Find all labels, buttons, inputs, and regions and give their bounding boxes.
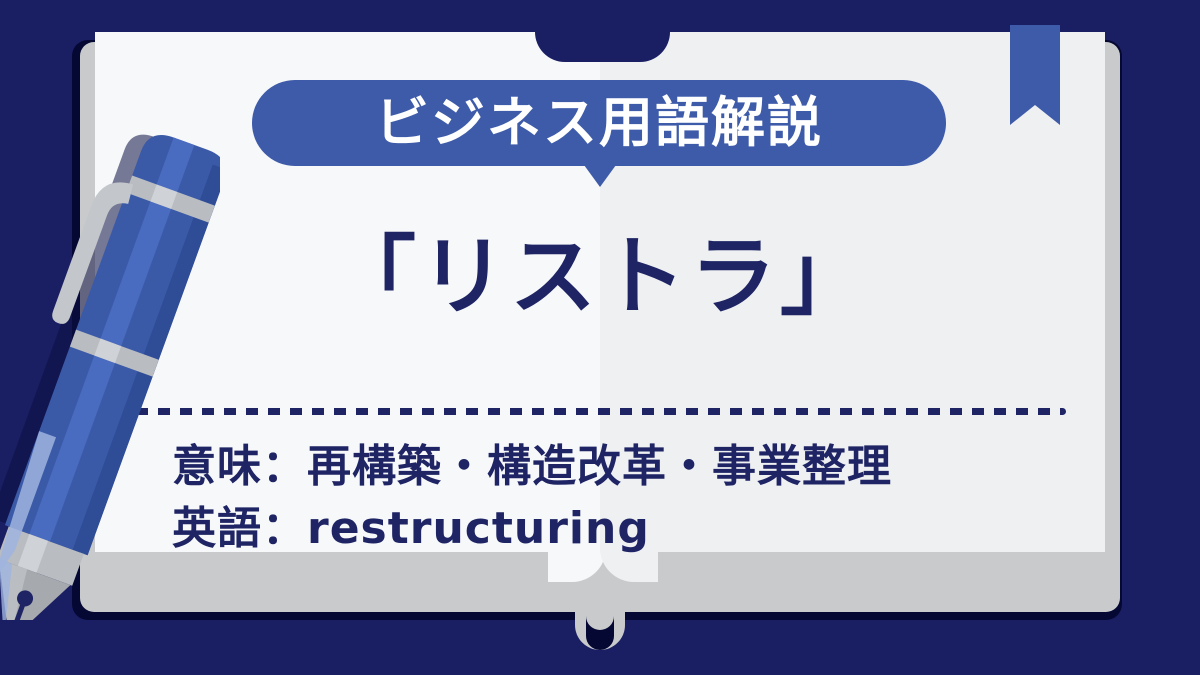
detail-line-english: 英語：restructuring	[172, 498, 1072, 560]
dashed-divider	[136, 408, 1066, 415]
slide-canvas: ビジネス用語解説 「リストラ」 意味：再構築・構造改革・事業整理 英語：rest…	[0, 0, 1200, 675]
fountain-pen-icon	[0, 120, 220, 620]
category-badge-label: ビジネス用語解説	[375, 96, 823, 150]
category-badge-tail	[584, 165, 616, 187]
category-badge: ビジネス用語解説	[252, 80, 946, 166]
bookmark-icon	[1010, 25, 1060, 125]
page-spine-notch	[572, 32, 632, 58]
detail-list: 意味：再構築・構造改革・事業整理 英語：restructuring	[172, 436, 1072, 561]
detail-line-meaning: 意味：再構築・構造改革・事業整理	[172, 436, 1072, 498]
